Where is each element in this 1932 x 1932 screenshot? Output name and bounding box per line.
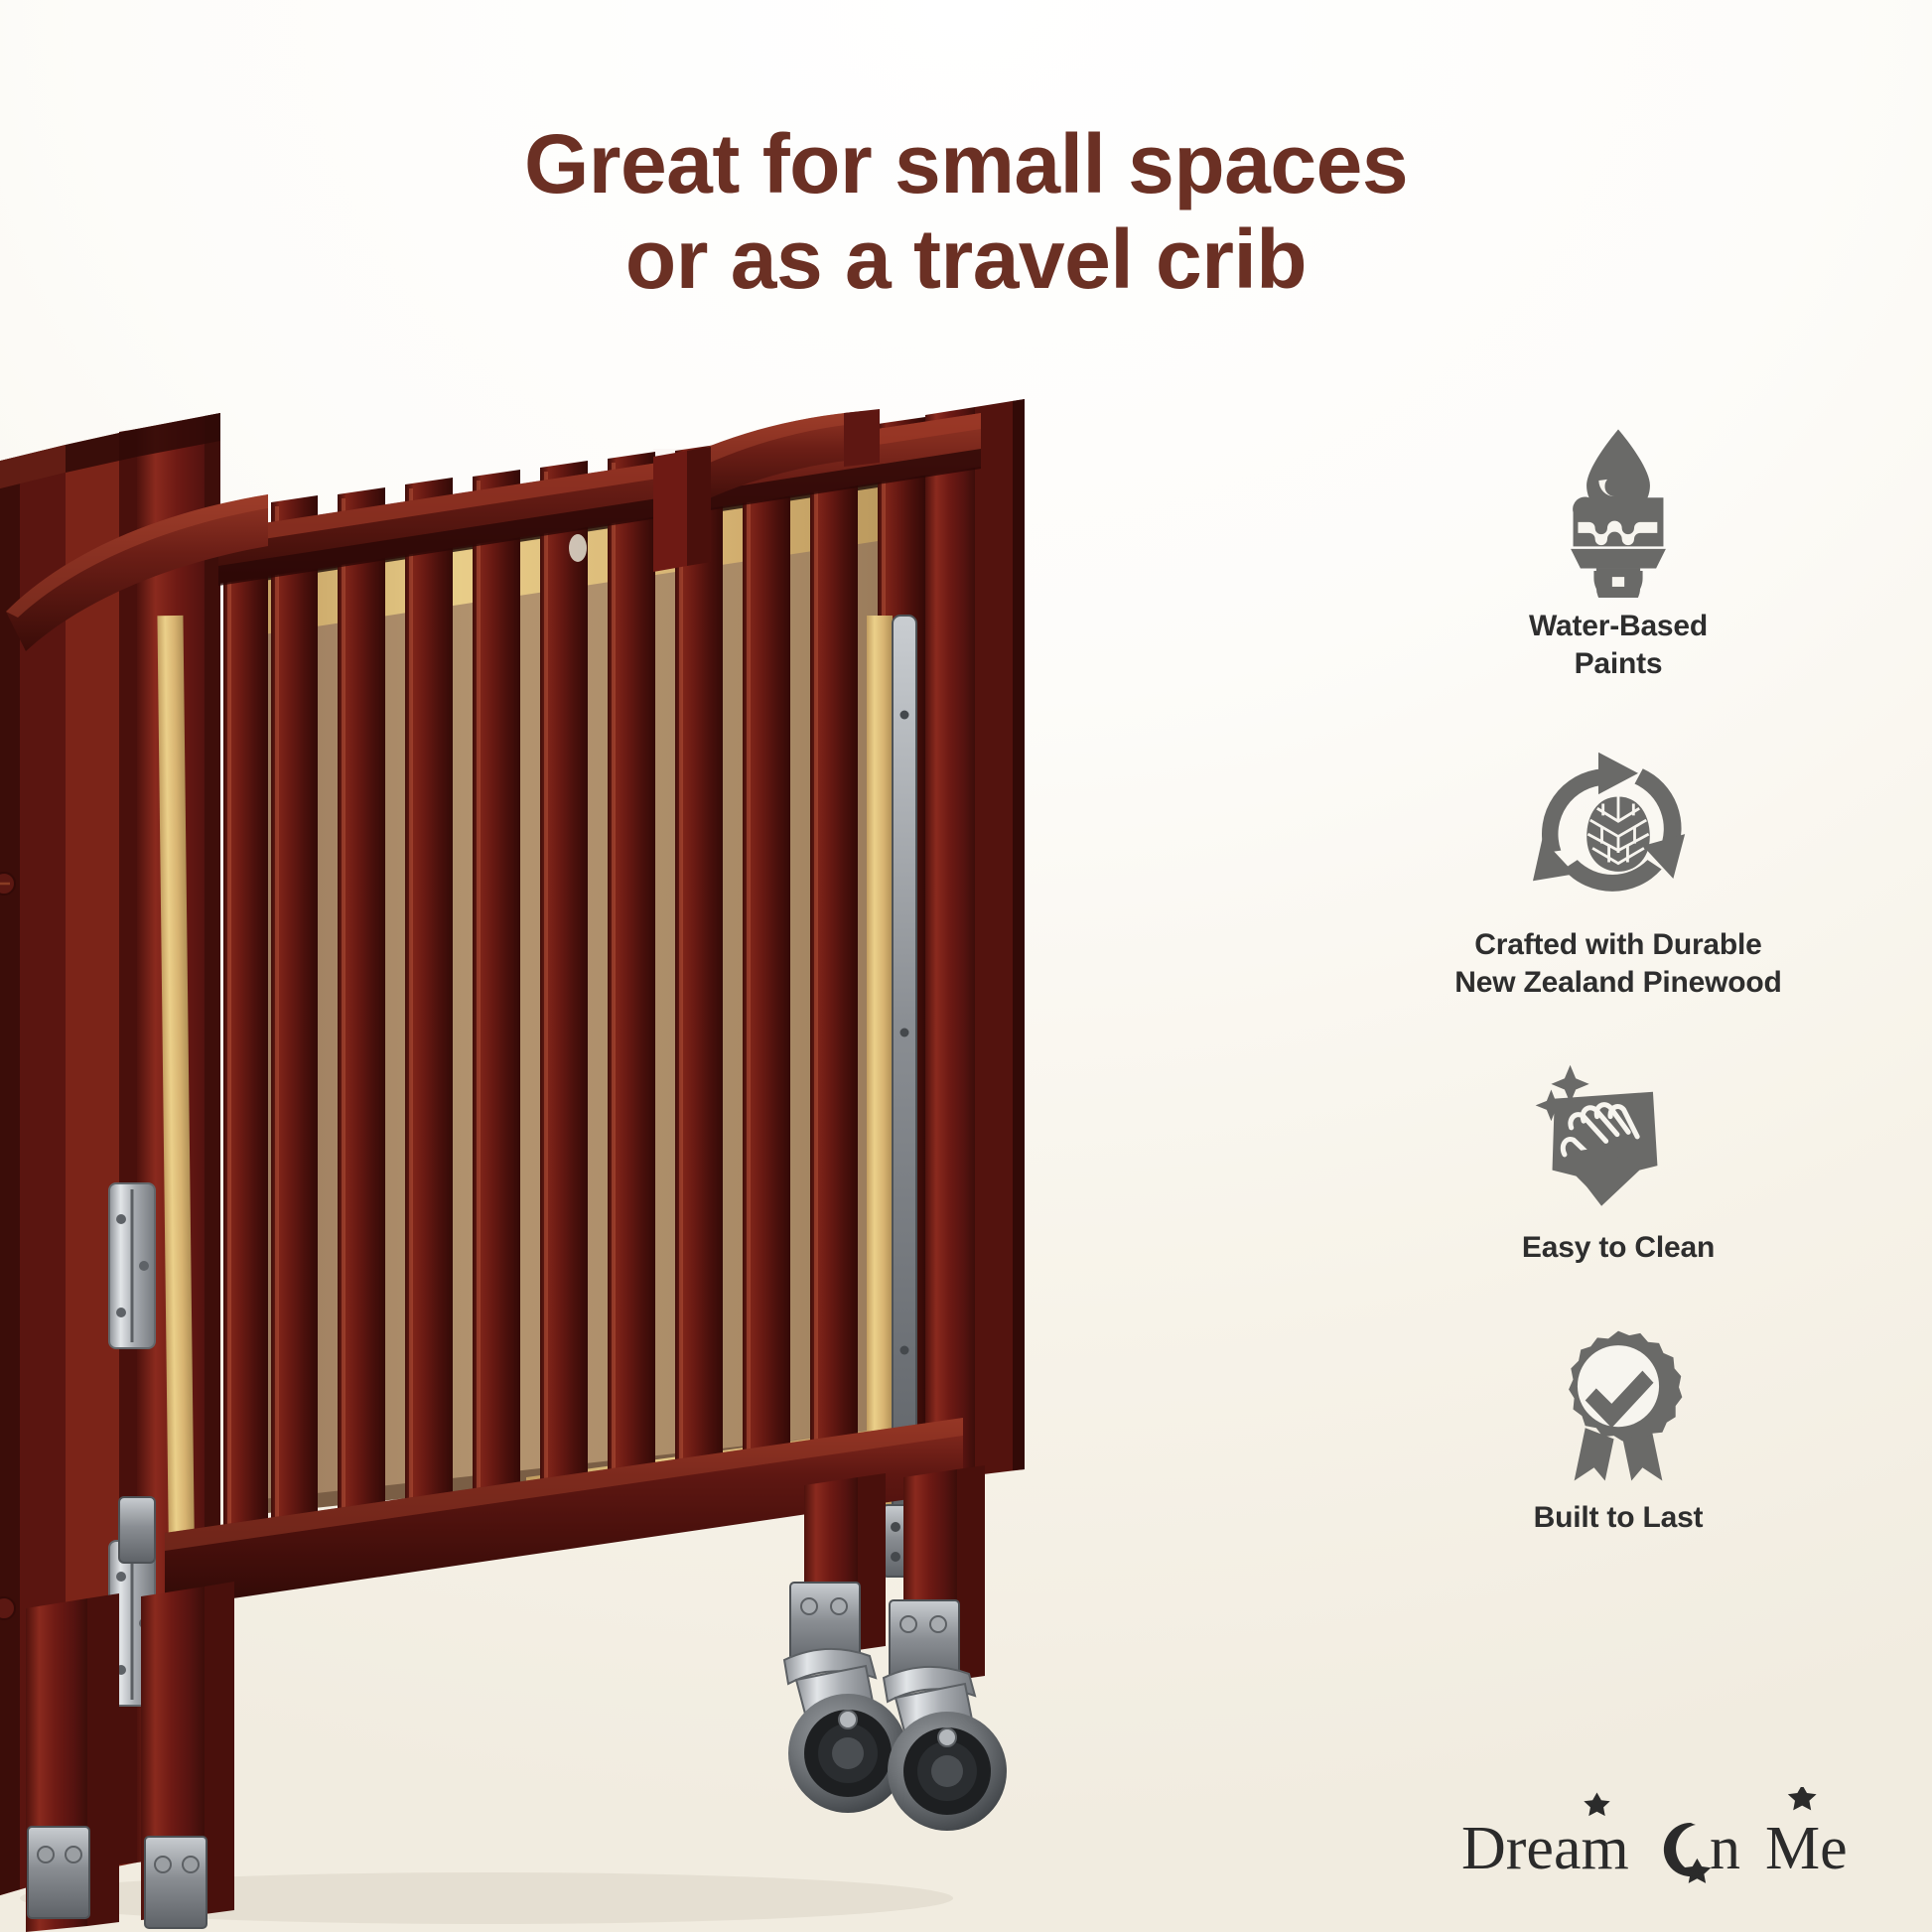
feature-item-built-to-last: Built to Last	[1410, 1324, 1827, 1537]
feature-label: Crafted with Durable New Zealand Pinewoo…	[1454, 926, 1781, 1003]
hand-wiping-cloth-icon	[1534, 1058, 1703, 1217]
feature-label: Water-Based Paints	[1529, 608, 1708, 684]
fold-hinge-upper	[109, 1183, 155, 1348]
page-title: Great for small spaces or as a travel cr…	[0, 117, 1932, 308]
paint-brush-water-drop-icon	[1544, 427, 1693, 598]
feature-item-water-based-paints: Water-Based Paints	[1410, 427, 1827, 684]
feature-label: Easy to Clean	[1522, 1229, 1715, 1267]
brand-wordmark-on: n	[1710, 1815, 1740, 1882]
infographic-canvas: Great for small spaces or as a travel cr…	[0, 0, 1932, 1932]
feature-label: Built to Last	[1534, 1499, 1704, 1537]
award-ribbon-check-icon	[1539, 1324, 1698, 1485]
feature-item-easy-to-clean: Easy to Clean	[1410, 1058, 1827, 1267]
brand-wordmark-left: Dream	[1461, 1815, 1629, 1882]
feature-item-new-zealand-pinewood: Crafted with Durable New Zealand Pinewoo…	[1410, 748, 1827, 1003]
brand-wordmark-me: Me	[1765, 1815, 1848, 1882]
feature-benefits-list: Water-Based Paints	[1410, 427, 1827, 1537]
brand-logo-dream-on-me: Dream n Me	[1449, 1787, 1876, 1896]
product-image-folding-crib	[0, 318, 1271, 1932]
recycle-pinecone-icon	[1530, 748, 1707, 918]
